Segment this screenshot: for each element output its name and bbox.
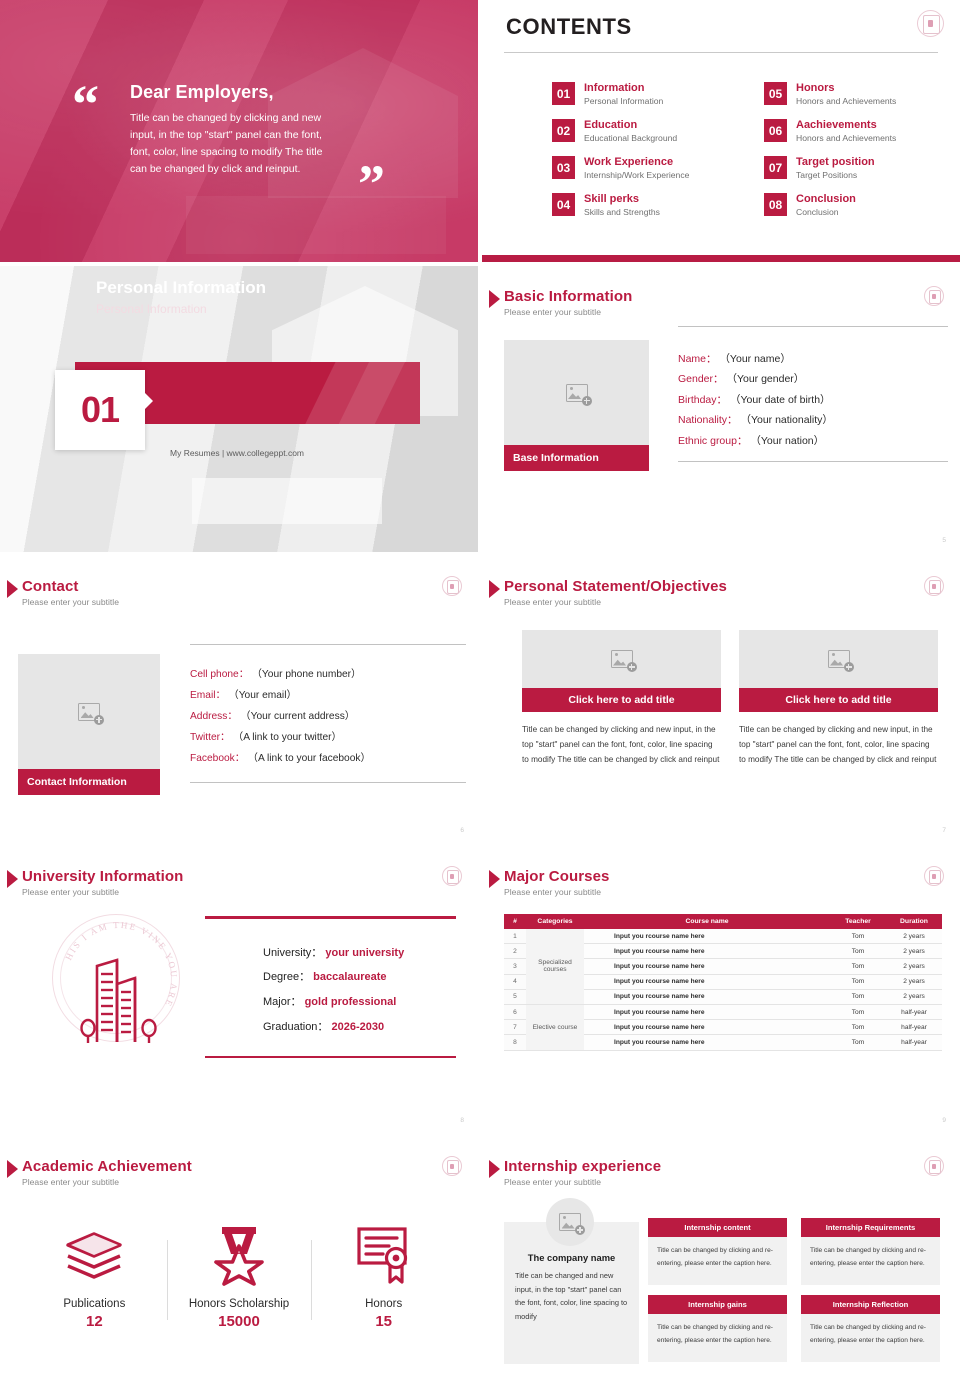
image-placeholder[interactable]: [504, 340, 649, 445]
col-header-duration: Duration: [886, 914, 942, 929]
statement-card-text: Title can be changed by clicking and new…: [522, 722, 721, 768]
contact-key: Twitter：: [190, 732, 230, 743]
slide-header: Internship experience Please enter your …: [504, 1158, 661, 1187]
university-seal-icon: [442, 866, 462, 886]
info-value: （Your gender）: [726, 373, 804, 385]
university-seal-icon: [917, 10, 944, 37]
contact-value: （A link to your facebook）: [248, 753, 371, 764]
contents-item-label: Conclusion: [796, 193, 856, 206]
table-header-row: # Categories Course name Teacher Duratio…: [504, 914, 942, 929]
contents-item-sub: Honors and Achievements: [796, 133, 896, 144]
page-subtitle: Please enter your subtitle: [504, 307, 632, 317]
page-title: Major Courses: [504, 868, 610, 885]
stat-value: 15000: [173, 1313, 306, 1330]
university-value: 2026-2030: [332, 1021, 385, 1033]
cell-course: Input you rcourse name here: [584, 1004, 830, 1019]
info-value: （Your nationality）: [740, 414, 832, 426]
achievement-stats: Publications 12 Honors Scholarship 15000: [22, 1222, 456, 1330]
slide-header: Basic Information Please enter your subt…: [504, 288, 632, 317]
cell-category: Elective course: [526, 1004, 584, 1050]
contents-item[interactable]: 02 Education Educational Background: [552, 119, 736, 144]
contents-item[interactable]: 05 Honors Honors and Achievements: [764, 82, 948, 107]
cell-teacher: Tom: [830, 1004, 886, 1019]
stat-label: Honors Scholarship: [173, 1298, 306, 1310]
contact-key: Email：: [190, 690, 226, 701]
university-row: University： your university: [263, 941, 456, 966]
university-row: Graduation： 2026-2030: [263, 1015, 456, 1040]
university-row: Major： gold professional: [263, 990, 456, 1015]
cell-index: 1: [504, 929, 526, 944]
internship-box-text: Title can be changed by clicking and re-…: [801, 1237, 940, 1285]
list-rule-bottom: [678, 461, 948, 462]
col-header-course: Course name: [584, 914, 830, 929]
statement-card[interactable]: Click here to add title Title can be cha…: [522, 630, 721, 768]
list-rule-bottom: [190, 782, 466, 783]
contents-item-sub: Honors and Achievements: [796, 96, 896, 107]
section-credit: My Resumes | www.collegeppt.com: [170, 448, 304, 458]
header-triangle-icon: [489, 580, 500, 598]
image-placeholder[interactable]: [18, 654, 160, 769]
table-row[interactable]: 6 Elective course Input you rcourse name…: [504, 1004, 942, 1019]
basic-info-caption: Base Information: [504, 445, 649, 471]
page-title: Internship experience: [504, 1158, 661, 1175]
slide-header: University Information Please enter your…: [22, 868, 183, 897]
contents-item-label: Aachievements: [796, 119, 896, 132]
cell-index: 6: [504, 1004, 526, 1019]
university-seal-icon: [924, 576, 944, 596]
header-triangle-icon: [7, 870, 18, 888]
courses-table[interactable]: # Categories Course name Teacher Duratio…: [504, 914, 942, 1051]
col-header-index: #: [504, 914, 526, 929]
info-row: Nationality： （Your nationality）: [678, 410, 948, 430]
contents-item-number: 07: [764, 156, 787, 179]
cell-teacher: Tom: [830, 989, 886, 1004]
contents-item[interactable]: 01 Information Personal Information: [552, 82, 736, 107]
contents-item-sub: Internship/Work Experience: [584, 170, 689, 181]
cell-duration: half-year: [886, 1004, 942, 1019]
university-seal-icon: [924, 866, 944, 886]
contact-row: Facebook： （A link to your facebook）: [190, 749, 466, 770]
info-value: （Your name）: [719, 353, 790, 365]
contact-photo-card[interactable]: Contact Information: [18, 654, 160, 795]
university-content: HIS I AM THE VINE YOU ARE: [55, 916, 456, 1066]
contents-item-sub: Target Positions: [796, 170, 875, 181]
info-key: Name：: [678, 353, 717, 365]
slide-header: Academic Achievement Please enter your s…: [22, 1158, 192, 1187]
page-number: 9: [942, 1117, 946, 1124]
cell-teacher: Tom: [830, 1020, 886, 1035]
statement-card-grid: Click here to add title Title can be cha…: [522, 630, 938, 768]
cell-course: Input you rcourse name here: [584, 1035, 830, 1050]
cell-duration: half-year: [886, 1035, 942, 1050]
university-value: gold professional: [305, 996, 397, 1008]
internship-box-title: Internship Reflection: [801, 1295, 940, 1314]
cell-duration: half-year: [886, 1020, 942, 1035]
cover-title: Dear Employers,: [130, 82, 342, 103]
contents-item-number: 03: [552, 156, 575, 179]
internship-box[interactable]: Internship Requirements Title can be cha…: [801, 1218, 940, 1285]
info-value: （Your date of birth）: [730, 394, 831, 406]
contact-value: （A link to your twitter）: [233, 732, 342, 743]
university-value: baccalaureate: [313, 971, 386, 983]
internship-box[interactable]: Internship gains Title can be changed by…: [648, 1295, 787, 1362]
contact-value: （Your email）: [229, 690, 297, 701]
contents-item-label: Work Experience: [584, 156, 689, 169]
stat-cell[interactable]: Publications 12: [22, 1222, 167, 1330]
internship-box[interactable]: Internship content Title can be changed …: [648, 1218, 787, 1285]
cell-duration: 2 years: [886, 974, 942, 989]
internship-box[interactable]: Internship Reflection Title can be chang…: [801, 1295, 940, 1362]
internship-box-title: Internship content: [648, 1218, 787, 1237]
slide-university-information[interactable]: University Information Please enter your…: [0, 846, 478, 1132]
info-row: Name： （Your name）: [678, 349, 948, 369]
page-title: Academic Achievement: [22, 1158, 192, 1175]
image-placeholder[interactable]: [522, 630, 721, 688]
contents-item[interactable]: 06 Aachievements Honors and Achievements: [764, 119, 948, 144]
internship-box-text: Title can be changed by clicking and re-…: [648, 1314, 787, 1362]
cell-teacher: Tom: [830, 1035, 886, 1050]
contents-list: 01 Information Personal Information 05 H…: [552, 82, 948, 219]
company-description: Title can be changed and new input, in t…: [515, 1269, 628, 1324]
contact-row: Email： （Your email）: [190, 686, 466, 707]
statement-card-title[interactable]: Click here to add title: [739, 688, 938, 712]
medal-star-icon: [173, 1222, 306, 1288]
slide-basic-information[interactable]: Basic Information Please enter your subt…: [482, 266, 960, 552]
contents-item-number: 04: [552, 193, 575, 216]
col-header-category: Categories: [526, 914, 584, 929]
cell-course: Input you rcourse name here: [584, 959, 830, 974]
contents-item[interactable]: 08 Conclusion Conclusion: [764, 193, 948, 218]
quote-close-icon: ”: [358, 168, 385, 201]
university-key: Major：: [263, 996, 302, 1008]
section-arrow-icon: [144, 392, 153, 410]
page-subtitle: Please enter your subtitle: [22, 1177, 192, 1187]
quote-open-icon: “: [72, 88, 99, 121]
university-key: Degree：: [263, 971, 310, 983]
university-rule-bottom: [205, 1056, 456, 1059]
university-key: University：: [263, 947, 322, 959]
cell-duration: 2 years: [886, 944, 942, 959]
slide-header: Major Courses Please enter your subtitle: [504, 868, 610, 897]
cell-index: 5: [504, 989, 526, 1004]
contents-item-sub: Conclusion: [796, 207, 856, 218]
page-number: 5: [942, 537, 946, 544]
internship-box-text: Title can be changed by clicking and re-…: [801, 1314, 940, 1362]
contact-row: Cell phone： （Your phone number）: [190, 665, 466, 686]
contact-key: Facebook：: [190, 753, 245, 764]
page-number: 8: [460, 1117, 464, 1124]
internship-box-title: Internship gains: [648, 1295, 787, 1314]
slide-major-courses[interactable]: Major Courses Please enter your subtitle…: [482, 846, 960, 1132]
cover-building-base-shape: [186, 196, 446, 254]
contents-item[interactable]: 04 Skill perks Skills and Strengths: [552, 193, 736, 218]
university-seal-icon: [924, 1156, 944, 1176]
stat-label: Honors: [317, 1298, 450, 1310]
slide-section-divider[interactable]: Personal Information Personal Informatio…: [0, 266, 478, 552]
section-title: Personal Information: [96, 278, 266, 298]
stat-value: 12: [28, 1313, 161, 1330]
cell-course: Input you rcourse name here: [584, 974, 830, 989]
contents-item-sub: Educational Background: [584, 133, 677, 144]
cell-course: Input you rcourse name here: [584, 944, 830, 959]
cell-teacher: Tom: [830, 974, 886, 989]
slide-contact[interactable]: Contact Please enter your subtitle Conta…: [0, 556, 478, 842]
company-name: The company name: [515, 1252, 628, 1263]
page-title: Contact: [22, 578, 119, 595]
page-subtitle: Please enter your subtitle: [22, 887, 183, 897]
cell-duration: 2 years: [886, 959, 942, 974]
slide-internship-experience[interactable]: Internship experience Please enter your …: [482, 1136, 960, 1400]
col-header-teacher: Teacher: [830, 914, 886, 929]
statement-card-title[interactable]: Click here to add title: [522, 688, 721, 712]
cover-text-block: Dear Employers, Title can be changed by …: [130, 82, 342, 178]
page-number: 6: [460, 827, 464, 834]
cell-duration: 2 years: [886, 929, 942, 944]
info-key: Ethnic group：: [678, 435, 747, 447]
cell-index: 4: [504, 974, 526, 989]
contents-item-number: 05: [764, 82, 787, 105]
internship-box-grid: Internship content Title can be changed …: [648, 1218, 940, 1362]
contact-value: （Your phone number）: [252, 669, 362, 680]
table-row[interactable]: 1 Specialized courses Input you rcourse …: [504, 929, 942, 944]
university-seal-icon: [442, 1156, 462, 1176]
contact-row: Address： （Your current address）: [190, 707, 466, 728]
contents-item-label: Honors: [796, 82, 896, 95]
university-value: your university: [325, 947, 404, 959]
contents-item-label: Skill perks: [584, 193, 660, 206]
contents-item-number: 08: [764, 193, 787, 216]
page-subtitle: Please enter your subtitle: [504, 597, 727, 607]
university-key: Graduation：: [263, 1021, 328, 1033]
page-title: Basic Information: [504, 288, 632, 305]
statement-card[interactable]: Click here to add title Title can be cha…: [739, 630, 938, 768]
header-triangle-icon: [7, 1160, 18, 1178]
contact-row: Twitter： （A link to your twitter）: [190, 728, 466, 749]
contents-divider: [504, 52, 938, 53]
info-value: （Your nation）: [750, 435, 824, 447]
page-subtitle: Please enter your subtitle: [504, 887, 610, 897]
cell-teacher: Tom: [830, 959, 886, 974]
certificate-icon: [317, 1222, 450, 1288]
books-icon: [28, 1222, 161, 1288]
add-image-icon: [78, 703, 100, 721]
image-placeholder[interactable]: [739, 630, 938, 688]
contents-item-number: 02: [552, 119, 575, 142]
stat-cell[interactable]: Honors Scholarship 15000: [167, 1222, 312, 1330]
slide-academic-achievement[interactable]: Academic Achievement Please enter your s…: [0, 1136, 478, 1400]
slide-header: Contact Please enter your subtitle: [22, 578, 119, 607]
page-subtitle: Please enter your subtitle: [504, 1177, 661, 1187]
basic-info-photo-card[interactable]: Base Information: [504, 340, 649, 471]
contact-key: Address：: [190, 711, 238, 722]
university-seal-icon: [442, 576, 462, 596]
contents-bottom-bar: [482, 255, 960, 262]
contents-item-label: Information: [584, 82, 663, 95]
image-placeholder[interactable]: [546, 1198, 594, 1246]
internship-box-text: Title can be changed by clicking and re-…: [648, 1237, 787, 1285]
university-seal-icon: [924, 286, 944, 306]
slide-header: Personal Statement/Objectives Please ent…: [504, 578, 727, 607]
cell-duration: 2 years: [886, 989, 942, 1004]
cell-index: 8: [504, 1035, 526, 1050]
contents-item[interactable]: 07 Target position Target Positions: [764, 156, 948, 181]
contact-list: Cell phone： （Your phone number） Email： （…: [190, 644, 466, 783]
info-row: Birthday： （Your date of birth）: [678, 390, 948, 410]
add-image-icon: [566, 384, 588, 402]
section-building-base-shape: [192, 478, 382, 524]
section-number-box: 01: [55, 370, 145, 450]
contents-item-sub: Personal Information: [584, 96, 663, 107]
internship-box-title: Internship Requirements: [801, 1218, 940, 1237]
page-number: 7: [942, 827, 946, 834]
contents-item[interactable]: 03 Work Experience Internship/Work Exper…: [552, 156, 736, 181]
contents-item-number: 01: [552, 82, 575, 105]
stat-value: 15: [317, 1313, 450, 1330]
slide-thumbnail-grid: “ ” Dear Employers, Title can be changed…: [0, 0, 960, 1400]
cell-teacher: Tom: [830, 944, 886, 959]
contents-item-label: Target position: [796, 156, 875, 169]
info-key: Nationality：: [678, 414, 738, 426]
header-triangle-icon: [489, 290, 500, 308]
info-row: Ethnic group： （Your nation）: [678, 431, 948, 451]
contents-item-number: 06: [764, 119, 787, 142]
info-row: Gender： （Your gender）: [678, 369, 948, 389]
contents-item-sub: Skills and Strengths: [584, 207, 660, 218]
basic-info-list: Name： （Your name） Gender： （Your gender） …: [678, 326, 948, 462]
slide-cover[interactable]: “ ” Dear Employers, Title can be changed…: [0, 0, 478, 262]
stat-label: Publications: [28, 1298, 161, 1310]
header-triangle-icon: [489, 870, 500, 888]
section-subtitle: Personal Information: [96, 302, 207, 316]
info-key: Birthday：: [678, 394, 727, 406]
add-image-icon: [611, 650, 633, 668]
header-triangle-icon: [7, 580, 18, 598]
stat-cell[interactable]: Honors 15: [311, 1222, 456, 1330]
cell-index: 7: [504, 1020, 526, 1035]
university-fields: University： your university Degree： bacc…: [205, 916, 456, 1058]
contents-item-label: Education: [584, 119, 677, 132]
info-key: Gender：: [678, 373, 724, 385]
contact-key: Cell phone：: [190, 669, 249, 680]
cell-category: Specialized courses: [526, 929, 584, 1004]
contact-caption: Contact Information: [18, 769, 160, 795]
contents-title: CONTENTS: [506, 14, 632, 40]
page-subtitle: Please enter your subtitle: [22, 597, 119, 607]
university-row: Degree： baccalaureate: [263, 965, 456, 990]
statement-card-text: Title can be changed by clicking and new…: [739, 722, 938, 768]
internship-company-card[interactable]: The company name Title can be changed an…: [504, 1222, 639, 1364]
page-title: Personal Statement/Objectives: [504, 578, 727, 595]
cell-course: Input you rcourse name here: [584, 1020, 830, 1035]
slide-contents[interactable]: CONTENTS 01 Information Personal Informa…: [482, 0, 960, 262]
page-title: University Information: [22, 868, 183, 885]
add-image-icon: [559, 1213, 581, 1231]
add-image-icon: [828, 650, 850, 668]
cell-teacher: Tom: [830, 929, 886, 944]
slide-personal-statement[interactable]: Personal Statement/Objectives Please ent…: [482, 556, 960, 842]
cell-index: 3: [504, 959, 526, 974]
cell-course: Input you rcourse name here: [584, 989, 830, 1004]
section-number: 01: [81, 389, 119, 431]
cell-index: 2: [504, 944, 526, 959]
cover-body-text: Title can be changed by clicking and new…: [130, 110, 342, 178]
buildings-icon: [73, 942, 183, 1054]
contact-value: （Your current address）: [240, 711, 355, 722]
header-triangle-icon: [489, 1160, 500, 1178]
cell-course: Input you rcourse name here: [584, 929, 830, 944]
